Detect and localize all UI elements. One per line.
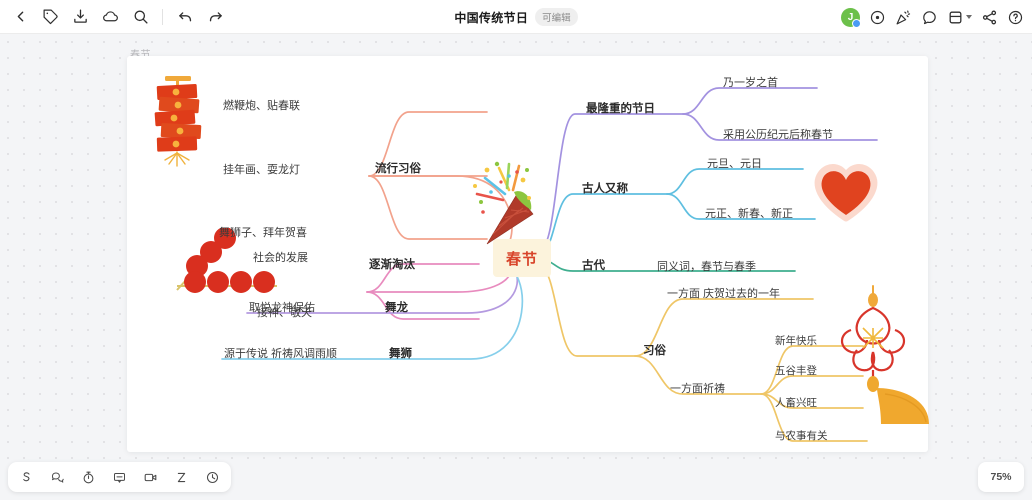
zoom-level-indicator[interactable]: 75% [978, 462, 1024, 492]
leaf-customs-sub-2[interactable]: 五谷丰登 [775, 363, 817, 378]
leaf-most-solemn-2[interactable]: 采用公历纪元后称春节 [723, 126, 833, 142]
help-icon[interactable] [1007, 9, 1024, 26]
tag-icon[interactable] [36, 4, 64, 30]
toolbar-divider [162, 9, 163, 25]
history-icon[interactable] [869, 9, 886, 26]
mindmap: 春节 流行习俗 燃鞭炮、贴春联 挂年画、耍龙灯 舞狮子、拜年贺喜 逐渐淘汰 社会… [127, 56, 928, 452]
canvas[interactable]: 春节 [0, 34, 1032, 464]
leaf-most-solemn-1[interactable]: 乃一岁之首 [723, 74, 778, 90]
celebrate-icon[interactable] [895, 9, 912, 26]
cloud-icon[interactable] [96, 4, 124, 30]
branch-ancient-names[interactable]: 古人又称 [582, 180, 628, 196]
comment-box-icon[interactable] [111, 469, 128, 486]
share-icon[interactable] [981, 9, 998, 26]
mindmap-root-node[interactable]: 春节 [493, 239, 551, 277]
leaf-ancient-times-1[interactable]: 同义词，春节与春季 [657, 258, 756, 274]
page-title: 中国传统节日 [454, 9, 528, 26]
branch-dragon-dance[interactable]: 舞龙 [385, 299, 408, 315]
top-toolbar-left-group [0, 4, 229, 30]
avatar[interactable]: J [841, 8, 860, 27]
branch-popular-customs[interactable]: 流行习俗 [375, 160, 421, 176]
bottom-toolbar [8, 462, 231, 492]
mindmap-board[interactable]: 春节 流行习俗 燃鞭炮、贴春联 挂年画、耍龙灯 舞狮子、拜年贺喜 逐渐淘汰 社会… [127, 56, 928, 452]
clock-icon[interactable] [204, 469, 221, 486]
chat-bubbles-icon[interactable] [49, 469, 66, 486]
app-root: 中国传统节日 可编辑 J [0, 0, 1032, 500]
layout-icon[interactable] [947, 9, 972, 26]
top-toolbar-right-group: J [841, 0, 1024, 34]
branch-ancient-times[interactable]: 古代 [582, 257, 605, 273]
chevron-down-icon[interactable] [966, 15, 972, 19]
branch-customs[interactable]: 习俗 [643, 342, 666, 358]
branch-lion-dance[interactable]: 舞狮 [389, 345, 412, 361]
comment-icon[interactable] [921, 9, 938, 26]
leaf-popular-customs-1[interactable]: 燃鞭炮、贴春联 [223, 97, 300, 113]
leaf-ancient-names-1[interactable]: 元旦、元日 [707, 155, 762, 171]
undo-icon[interactable] [171, 4, 199, 30]
sign-icon[interactable] [18, 469, 35, 486]
chinese-knot-decoration [833, 284, 929, 424]
timer-icon[interactable] [80, 469, 97, 486]
download-icon[interactable] [66, 4, 94, 30]
editable-badge[interactable]: 可编辑 [535, 8, 578, 26]
leaf-customs-sub-3[interactable]: 人畜兴旺 [775, 395, 817, 410]
firecrackers-decoration [145, 74, 209, 170]
leaf-popular-customs-3[interactable]: 舞狮子、拜年贺喜 [219, 224, 307, 240]
leaf-customs-sub-4[interactable]: 与农事有关 [775, 428, 828, 443]
leaf-customs-sub-1[interactable]: 新年快乐 [775, 333, 817, 348]
leaf-popular-customs-2[interactable]: 挂年画、耍龙灯 [223, 161, 300, 177]
leaf-gradually-eliminated-1[interactable]: 社会的发展 [253, 249, 308, 265]
back-icon[interactable] [6, 4, 34, 30]
top-toolbar: 中国传统节日 可编辑 J [0, 0, 1032, 34]
video-icon[interactable] [142, 469, 159, 486]
redo-icon[interactable] [201, 4, 229, 30]
leaf-customs-1[interactable]: 一方面 庆贺过去的一年 [667, 285, 780, 301]
branch-gradually-eliminated[interactable]: 逐渐淘汰 [369, 256, 415, 272]
leaf-ancient-names-2[interactable]: 元正、新春、新正 [705, 205, 793, 221]
branch-most-solemn-festival[interactable]: 最隆重的节日 [586, 100, 655, 116]
leaf-lion-dance-1[interactable]: 源于传说 祈祷风调雨顺 [224, 345, 337, 361]
zoom-z-icon[interactable] [173, 469, 190, 486]
leaf-dragon-dance-1[interactable]: 取悦龙神保佑 [249, 299, 315, 315]
party-popper-decoration [457, 158, 543, 248]
search-icon[interactable] [126, 4, 154, 30]
heart-decoration [809, 160, 883, 224]
leaf-customs-2[interactable]: 一方面祈祷 [670, 380, 725, 396]
